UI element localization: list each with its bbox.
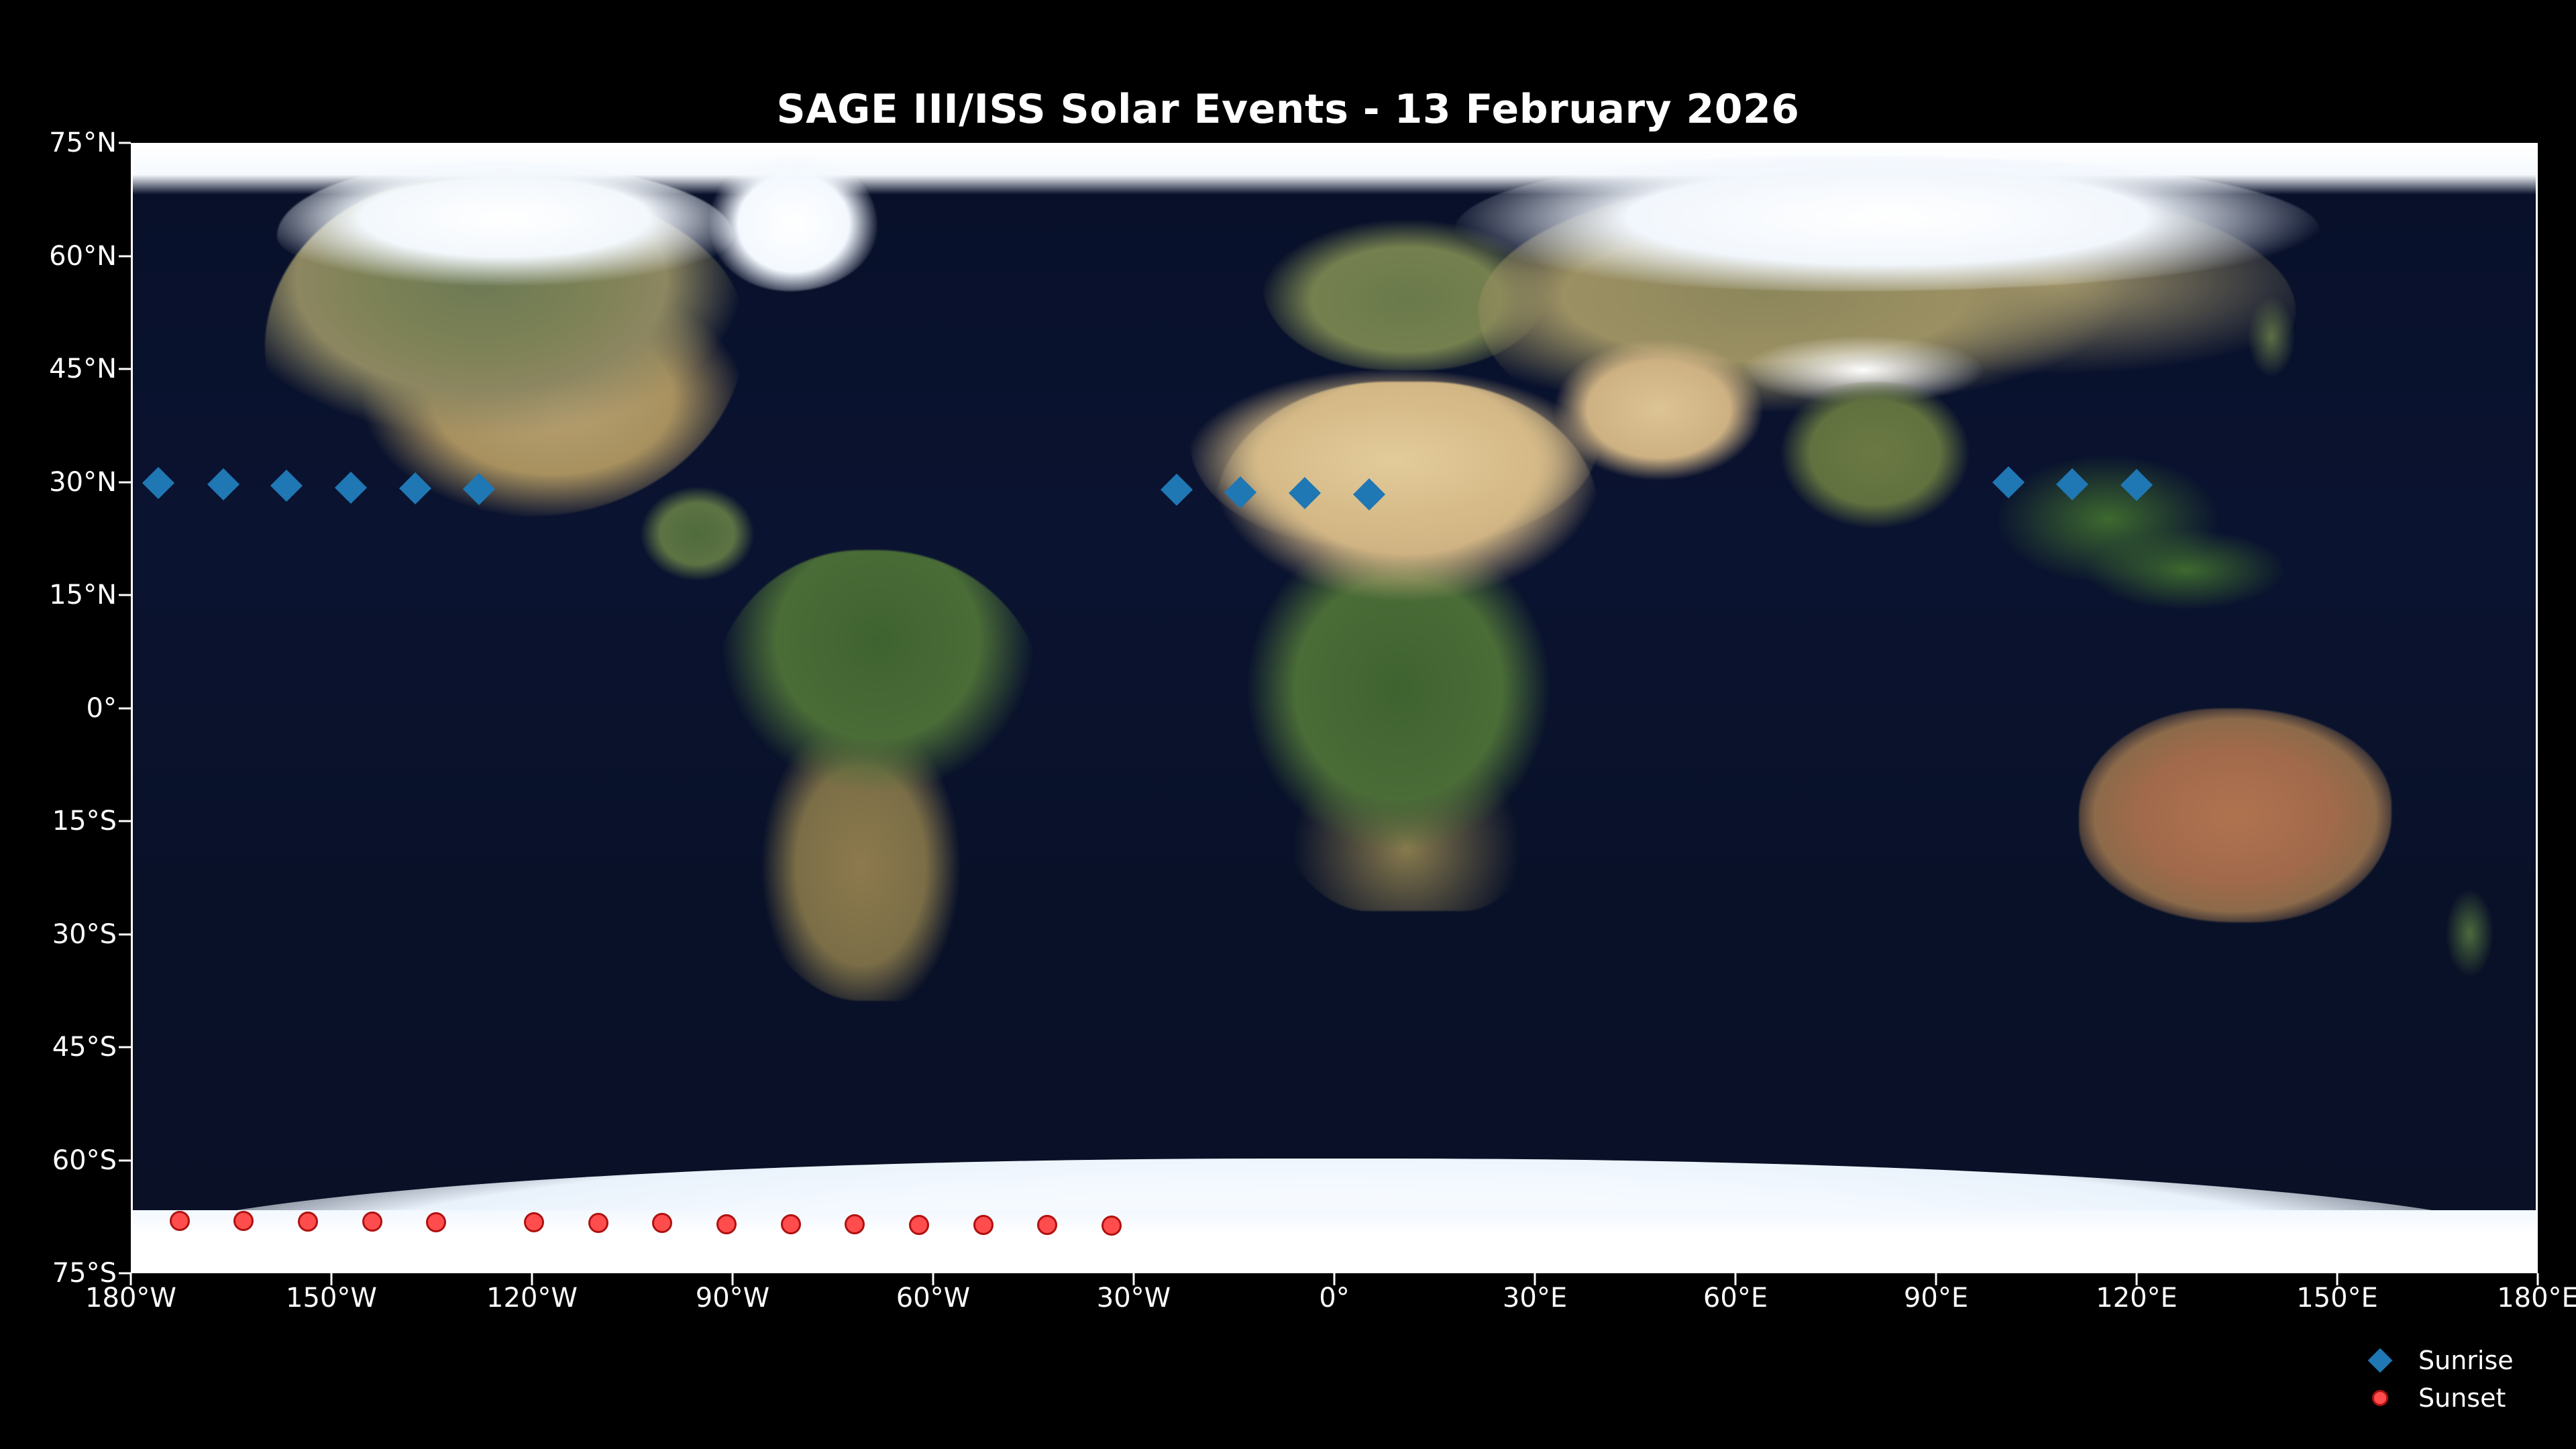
sunset-marker[interactable] <box>716 1214 737 1234</box>
landmass-india <box>1767 382 1983 539</box>
sunset-marker[interactable] <box>1037 1215 1057 1235</box>
landmass-australia <box>2079 708 2392 922</box>
x-axis-tick-label: 120°W <box>486 1283 578 1313</box>
sunset-marker[interactable] <box>845 1214 865 1234</box>
x-axis-tick-label: 180°W <box>85 1283 176 1313</box>
x-axis-tick-label: 150°E <box>2296 1283 2378 1313</box>
x-axis-tick-mark <box>1133 1273 1135 1285</box>
x-axis-tick-mark <box>932 1273 934 1285</box>
sunset-marker[interactable] <box>781 1214 801 1234</box>
diamond-marker-icon <box>2365 1352 2396 1369</box>
sunset-marker[interactable] <box>1102 1216 1122 1236</box>
legend: Sunrise Sunset <box>2365 1342 2566 1417</box>
y-axis-tick-mark <box>119 594 131 596</box>
y-axis-tick-mark <box>119 1159 131 1161</box>
x-axis-tick-mark <box>331 1273 333 1285</box>
y-axis-tick-mark <box>119 255 131 257</box>
landmass-greenland <box>710 156 878 291</box>
landmass-central-america <box>613 483 782 584</box>
y-axis-tick-label: 60°S <box>52 1145 117 1176</box>
x-axis-tick-label: 90°E <box>1904 1283 1968 1313</box>
sunset-marker[interactable] <box>298 1212 318 1232</box>
x-axis-tick-mark <box>130 1273 132 1285</box>
x-axis-tick-mark <box>1735 1273 1737 1285</box>
sunset-marker[interactable] <box>170 1211 190 1231</box>
legend-label-sunrise: Sunrise <box>2418 1346 2514 1375</box>
x-axis-tick-mark <box>1334 1273 1336 1285</box>
x-axis-tick-mark <box>2537 1273 2539 1285</box>
landmass-arabia <box>1550 336 1766 482</box>
y-axis-tick-mark <box>119 1273 131 1275</box>
figure-canvas: SAGE III/ISS Solar Events - 13 February … <box>0 0 2576 1449</box>
landmass-siberia-snow <box>1454 156 2320 291</box>
sunset-marker[interactable] <box>362 1212 382 1232</box>
x-axis-tick-label: 180°E <box>2497 1283 2576 1313</box>
legend-item-sunrise[interactable]: Sunrise <box>2365 1342 2566 1379</box>
y-axis-tick-label: 0° <box>87 693 117 724</box>
legend-item-sunset[interactable]: Sunset <box>2365 1379 2566 1417</box>
x-axis-tick-mark <box>531 1273 533 1285</box>
x-axis-tick-label: 30°W <box>1097 1283 1171 1313</box>
sunset-marker[interactable] <box>909 1215 929 1235</box>
landmass-canada-snow <box>277 162 734 286</box>
y-axis-tick-mark <box>119 707 131 709</box>
landmass-south-america <box>710 550 1046 1001</box>
page-title: SAGE III/ISS Solar Events - 13 February … <box>0 86 2576 133</box>
x-axis-tick-mark <box>1935 1273 1937 1285</box>
y-axis-tick-label: 45°N <box>49 354 117 384</box>
basemap-image <box>133 145 2536 1271</box>
landmass-japan <box>2223 291 2319 381</box>
y-axis-tick-label: 45°S <box>52 1032 117 1063</box>
x-axis-tick-label: 30°E <box>1503 1283 1567 1313</box>
x-axis-tick-label: 120°E <box>2096 1283 2178 1313</box>
sunset-marker[interactable] <box>524 1212 544 1232</box>
legend-label-sunset: Sunset <box>2418 1383 2506 1413</box>
x-axis-tick-label: 150°W <box>286 1283 377 1313</box>
sunset-marker[interactable] <box>426 1212 446 1232</box>
y-axis-tick-mark <box>119 1046 131 1049</box>
x-axis-tick-label: 60°E <box>1703 1283 1768 1313</box>
sunset-marker[interactable] <box>233 1211 254 1231</box>
y-axis-tick-mark <box>119 933 131 935</box>
y-axis-tick-label: 75°N <box>49 127 117 158</box>
y-axis-tick-label: 15°N <box>49 580 117 610</box>
x-axis-tick-label: 0° <box>1319 1283 1349 1313</box>
landmass-southeast-asia <box>1983 438 2296 641</box>
x-axis-tick-mark <box>1534 1273 1536 1285</box>
y-axis-tick-label: 15°S <box>52 806 117 837</box>
y-axis-tick-label: 30°S <box>52 919 117 950</box>
y-axis-tick-mark <box>119 820 131 822</box>
sunset-marker[interactable] <box>973 1215 994 1235</box>
y-axis-tick-mark <box>119 481 131 483</box>
y-axis-tick-mark <box>119 142 131 144</box>
circle-marker-icon <box>2365 1390 2396 1406</box>
x-axis-tick-mark <box>732 1273 734 1285</box>
y-axis-tick-mark <box>119 368 131 370</box>
x-axis-tick-mark <box>2136 1273 2138 1285</box>
x-axis-tick-mark <box>2337 1273 2339 1285</box>
landmass-new-zealand <box>2428 888 2512 978</box>
y-axis-tick-label: 30°N <box>49 467 117 498</box>
map-plot-area[interactable] <box>131 143 2538 1273</box>
sunset-marker[interactable] <box>588 1213 608 1233</box>
x-axis-tick-label: 60°W <box>896 1283 970 1313</box>
antarctica-ice-base <box>133 1210 2536 1271</box>
antarctica-ice-sheet <box>131 1159 2538 1273</box>
sunset-marker[interactable] <box>652 1213 672 1233</box>
x-axis-tick-label: 90°W <box>696 1283 769 1313</box>
y-axis-tick-label: 60°N <box>49 241 117 272</box>
